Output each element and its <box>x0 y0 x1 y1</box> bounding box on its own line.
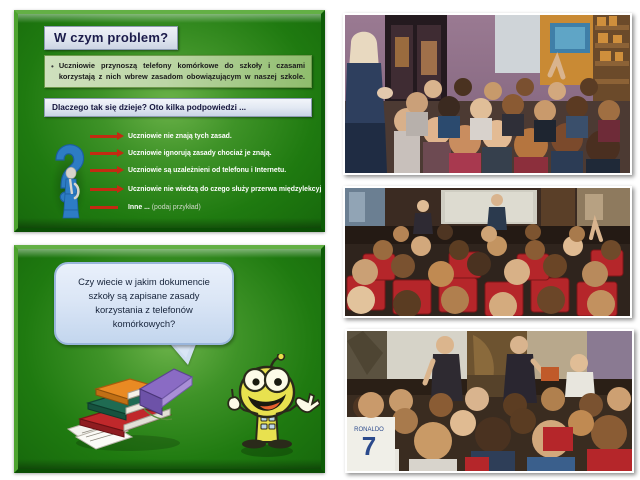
bubble-line: Czy wiecie w jakim dokumencie <box>66 275 222 289</box>
reason-label: Uczniowie nie znają tych zasad. <box>128 133 232 140</box>
reason-item: Inne ... (podaj przykład) <box>90 199 315 216</box>
bullet-dot-icon: • <box>51 60 54 72</box>
photo2-image <box>345 188 630 316</box>
reason-item: Uczniowie są uzależnieni od telefonu i I… <box>90 162 315 179</box>
slide-w-czym-problem: W czym problem? • Uczniowie przynoszą te… <box>14 10 325 232</box>
photo-two-presenters: 7 RONALDO <box>345 329 634 473</box>
reason-label: Inne ... (podaj przykład) <box>128 204 201 211</box>
reason-label: Uczniowie są uzależnieni od telefonu i I… <box>128 167 286 174</box>
svg-text:RONALDO: RONALDO <box>354 427 384 433</box>
reason-label: Uczniowie ignorują zasady chociaż je zna… <box>128 150 272 157</box>
slide1-bullet-box: • Uczniowie przynoszą telefony komórkowe… <box>44 55 312 88</box>
reason-item: Uczniowie ignorują zasady chociaż je zna… <box>90 145 315 162</box>
yellow-mascot-illustration <box>214 354 320 459</box>
speech-bubble: Czy wiecie w jakim dokumencie szkoły są … <box>54 262 234 345</box>
slide-czy-wiecie: Czy wiecie w jakim dokumencie szkoły są … <box>14 245 325 473</box>
reason-item: Uczniowie nie wiedzą do czego służy prze… <box>90 179 315 199</box>
question-mark-figure <box>48 140 90 224</box>
photo1-image <box>345 15 630 173</box>
arrow-icon <box>90 188 118 191</box>
stack-of-books-illustration <box>66 359 196 454</box>
bubble-line: korzystania z telefonów <box>66 303 222 317</box>
slide1-bullet-text: Uczniowie przynoszą telefony komórkowe d… <box>59 60 305 82</box>
bubble-line: szkoły są zapisane zasady <box>66 289 222 303</box>
reason-label-main: Inne ... <box>128 204 150 211</box>
collage-page: W czym problem? • Uczniowie przynoszą te… <box>0 0 640 480</box>
arrow-icon <box>90 135 118 138</box>
reason-label: Uczniowie nie wiedzą do czego służy prze… <box>128 186 325 193</box>
arrow-icon <box>90 152 118 155</box>
photo-library-presentation <box>343 13 632 175</box>
reason-item: Uczniowie nie znają tych zasad. <box>90 128 315 145</box>
slide1-reasons-list: Uczniowie nie znają tych zasad. Uczniowi… <box>90 128 315 216</box>
question-mark-icon <box>48 140 90 224</box>
slide1-title: W czym problem? <box>44 26 178 50</box>
photo3-image: 7 RONALDO <box>347 331 632 471</box>
reason-label-hint: (podaj przykład) <box>152 204 201 211</box>
photo-auditorium-red-chairs <box>343 186 632 318</box>
dash-icon <box>90 206 118 209</box>
bubble-line: komórkowych? <box>66 317 222 331</box>
arrow-icon <box>90 169 118 172</box>
svg-text:7: 7 <box>362 431 376 461</box>
slide1-subtitle-bar: Dlaczego tak się dzieje? Oto kilka podpo… <box>44 98 312 117</box>
